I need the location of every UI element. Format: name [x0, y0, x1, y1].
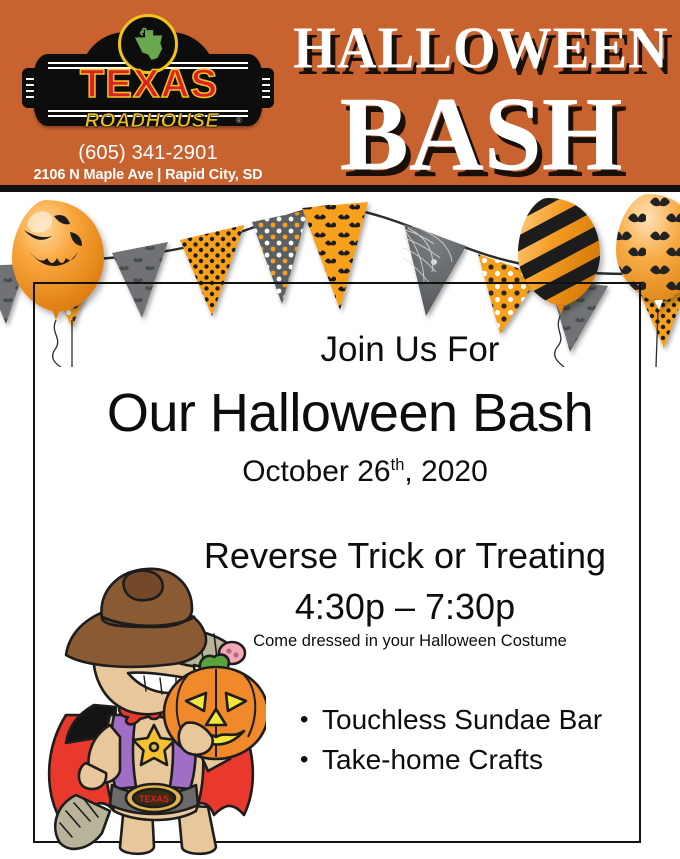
halloween-bash-flyer: TEXAS ROADHOUSE ® (605) 341-2901 2106 N … [0, 0, 680, 859]
belt-buckle-label: TEXAS [139, 794, 169, 804]
pennant-gray-bats [0, 264, 26, 324]
header-address: 2106 N Maple Ave | Rapid City, SD [10, 167, 286, 183]
list-item: Touchless Sundae Bar [300, 700, 640, 740]
header-divider [0, 185, 680, 192]
headline-text: Our Halloween Bash [70, 382, 630, 444]
header-phone: (605) 341-2901 [18, 142, 278, 165]
vampire-cowboy-armadillo-mascot: TEXAS [36, 565, 266, 857]
texas-roadhouse-logo: TEXAS ROADHOUSE ® [22, 12, 274, 140]
event-date-ordinal: th [391, 456, 405, 474]
header-title: HALLOWEEN BASH [286, 6, 676, 185]
event-date-suffix: , 2020 [404, 455, 487, 488]
join-us-text: Join Us For [180, 330, 640, 370]
texas-state-icon [132, 27, 168, 63]
logo-brand-word: TEXAS [46, 62, 252, 106]
list-item: Take-home Crafts [300, 740, 640, 780]
header-title-line2: BASH [286, 82, 676, 185]
logo-registered-mark: ® [236, 116, 242, 125]
flyer-header: TEXAS ROADHOUSE ® (605) 341-2901 2106 N … [0, 0, 680, 185]
event-date: October 26th, 2020 [130, 455, 600, 489]
logo-brand-sub: ROADHOUSE [62, 110, 242, 133]
header-title-line1: HALLOWEEN [286, 18, 676, 77]
event-date-prefix: October 26 [242, 455, 390, 488]
activities-list: Touchless Sundae Bar Take-home Crafts [300, 700, 640, 780]
